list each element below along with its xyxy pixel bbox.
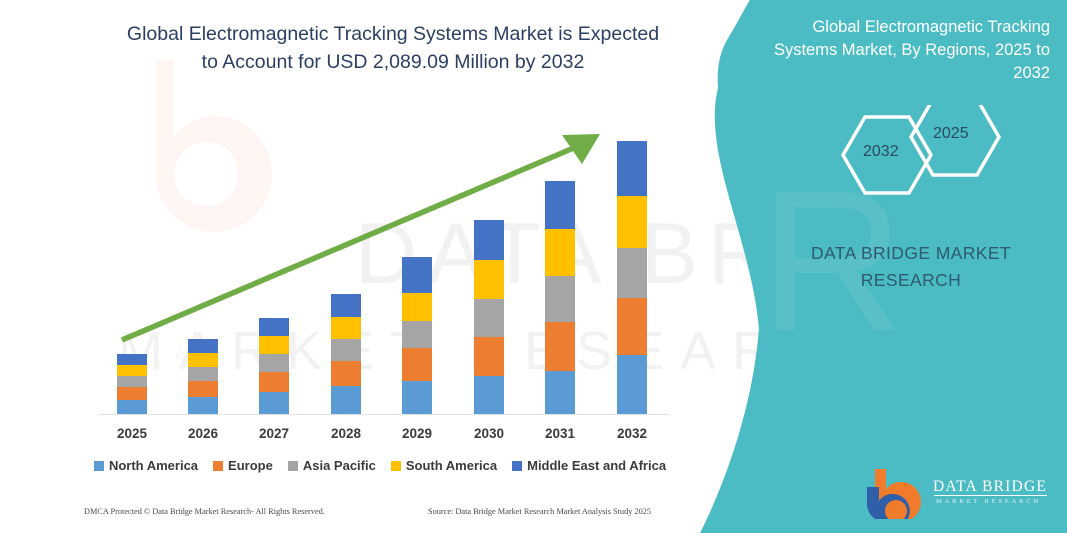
bar-segment (259, 372, 289, 392)
bar-segment (474, 220, 504, 260)
legend-item-north-america[interactable]: North America (94, 458, 198, 473)
legend-item-south-america[interactable]: South America (391, 458, 497, 473)
hexagon-group: 2032 2025 (833, 105, 1033, 205)
bar-column-2028[interactable] (331, 294, 361, 414)
x-axis-label-2030: 2030 (459, 426, 519, 441)
bar-segment (617, 141, 647, 196)
bar-segment (474, 376, 504, 414)
bar-column-2025[interactable] (117, 354, 147, 414)
legend-swatch-icon (391, 461, 401, 471)
brand-line-2: RESEARCH (861, 270, 961, 290)
x-axis-label-2026: 2026 (173, 426, 233, 441)
bar-segment (545, 276, 575, 322)
bar-segment (259, 392, 289, 414)
logo-wordmark: DATA BRIDGE (933, 478, 1047, 496)
legend-label: Europe (228, 458, 273, 473)
legend-label: Middle East and Africa (527, 458, 666, 473)
bar-segment (117, 387, 147, 400)
bar-segment (188, 381, 218, 397)
footer-copyright: DMCA Protected © Data Bridge Market Rese… (84, 507, 325, 516)
infographic-slide: DATA BRIDGE MARKET RESEARCH Global Elect… (0, 0, 1067, 533)
bar-segment (617, 355, 647, 414)
x-axis-label-2032: 2032 (602, 426, 662, 441)
bar-segment (259, 318, 289, 336)
hexagon-label-2025: 2025 (933, 125, 969, 143)
bar-segment (331, 317, 361, 339)
bar-segment (474, 260, 504, 299)
legend-item-asia-pacific[interactable]: Asia Pacific (288, 458, 376, 473)
stacked-bar-series (0, 0, 760, 533)
bar-column-2031[interactable] (545, 181, 575, 414)
bar-segment (117, 376, 147, 387)
right-panel-title: Global Electromagnetic Tracking Systems … (768, 16, 1050, 85)
bar-column-2029[interactable] (402, 257, 432, 414)
bar-segment (117, 365, 147, 376)
bar-segment (545, 322, 575, 371)
legend-label: South America (406, 458, 497, 473)
legend-label: North America (109, 458, 198, 473)
bar-segment (617, 196, 647, 248)
bar-segment (259, 354, 289, 372)
bar-segment (188, 353, 218, 367)
legend-swatch-icon (94, 461, 104, 471)
bar-segment (402, 257, 432, 293)
x-axis-label-2031: 2031 (530, 426, 590, 441)
bar-segment (402, 348, 432, 381)
bar-segment (474, 337, 504, 376)
bar-segment (117, 400, 147, 414)
x-axis-labels: 20252026202720282029203020312032 (0, 426, 760, 448)
bar-column-2026[interactable] (188, 339, 218, 414)
legend-item-europe[interactable]: Europe (213, 458, 273, 473)
bar-segment (331, 294, 361, 317)
bar-segment (402, 321, 432, 348)
x-axis-label-2029: 2029 (387, 426, 447, 441)
brand-line-1: DATA BRIDGE MARKET (811, 243, 1011, 263)
bar-segment (545, 371, 575, 414)
legend-item-middle-east-and-africa[interactable]: Middle East and Africa (512, 458, 666, 473)
right-panel-brand: DATA BRIDGE MARKET RESEARCH (766, 240, 1056, 294)
bar-segment (617, 298, 647, 355)
x-axis-label-2027: 2027 (244, 426, 304, 441)
logo-tagline: MARKET RESEARCH (936, 498, 1041, 505)
x-axis-label-2028: 2028 (316, 426, 376, 441)
bar-segment (402, 293, 432, 321)
bar-segment (188, 339, 218, 353)
bar-column-2030[interactable] (474, 220, 504, 414)
bar-column-2027[interactable] (259, 318, 289, 414)
legend-swatch-icon (288, 461, 298, 471)
bar-segment (545, 229, 575, 276)
bar-segment (331, 361, 361, 386)
bar-segment (117, 354, 147, 365)
bar-segment (331, 386, 361, 414)
legend-label: Asia Pacific (303, 458, 376, 473)
x-axis-label-2025: 2025 (102, 426, 162, 441)
bar-segment (617, 248, 647, 298)
logo-divider (934, 495, 1047, 496)
footer-source: Source: Data Bridge Market Research Mark… (428, 507, 651, 516)
hexagon-label-2032: 2032 (863, 143, 899, 161)
chart-panel: Global Electromagnetic Tracking Systems … (0, 0, 760, 533)
bar-segment (331, 339, 361, 361)
footer: DMCA Protected © Data Bridge Market Rese… (0, 507, 760, 527)
chart-legend: North AmericaEuropeAsia PacificSouth Ame… (0, 458, 760, 473)
bar-segment (474, 299, 504, 337)
bar-segment (188, 367, 218, 381)
bar-segment (545, 181, 575, 229)
legend-swatch-icon (213, 461, 223, 471)
bar-segment (402, 381, 432, 414)
bar-segment (259, 336, 289, 354)
legend-swatch-icon (512, 461, 522, 471)
bar-segment (188, 397, 218, 414)
bar-column-2032[interactable] (617, 141, 647, 414)
